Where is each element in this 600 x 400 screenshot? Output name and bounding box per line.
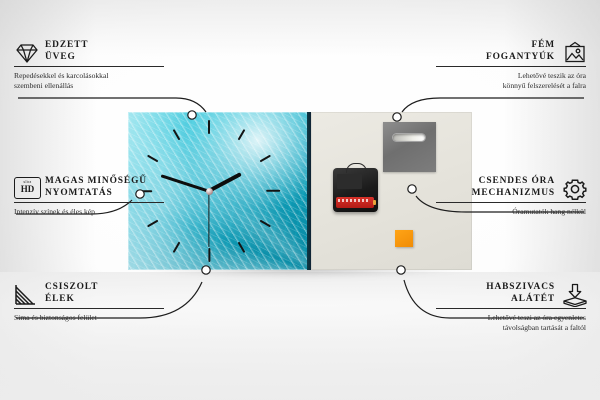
- callout-header: FÉM FOGANTYÚK: [426, 40, 586, 63]
- clock-hour-hand: [208, 172, 242, 193]
- callout-title: MAGAS MINŐSÉGŰ NYOMTATÁS: [45, 176, 147, 199]
- metal-hanger-bracket: [383, 122, 436, 172]
- callout-rule: [14, 66, 164, 67]
- ultra-hd-icon: ultra HD: [14, 177, 38, 199]
- hanging-frame-icon: [562, 41, 586, 63]
- clock-tick: [173, 129, 181, 140]
- callout-rule: [436, 66, 586, 67]
- clock-center-cap: [206, 188, 213, 195]
- callout-description: Lehetővé teszik az óra könnyű felszerelé…: [426, 71, 586, 90]
- clock-tick: [260, 220, 271, 228]
- callout-title: HABSZIVACS ALÁTÉT: [486, 282, 555, 305]
- callout-title: EDZETT ÜVEG: [45, 40, 88, 63]
- foam-spacer-pad: [395, 230, 413, 247]
- callout-rule: [436, 202, 586, 203]
- callout-csiszolt-elek[interactable]: CSISZOLT ÉLEK Sima és biztonságos felüle…: [14, 282, 174, 323]
- callout-description: Repedésekkel és karcolásokkal szembeni e…: [14, 71, 174, 90]
- connector-line-edzett-uveg: [18, 98, 206, 112]
- callout-header: CSENDES ÓRA MECHANIZMUS: [426, 176, 586, 199]
- movement-body: [337, 174, 362, 189]
- callout-rule: [436, 308, 586, 309]
- callout-header: CSISZOLT ÉLEK: [14, 282, 174, 305]
- connector-line-fem-fogantyuk: [402, 98, 584, 112]
- callout-title: FÉM FOGANTYÚK: [486, 40, 555, 63]
- infographic-stage: EDZETT ÜVEG Repedésekkel és karcolásokka…: [0, 0, 600, 400]
- battery-label: [338, 199, 368, 202]
- clock-tick: [173, 242, 181, 253]
- clock-tick: [266, 190, 280, 192]
- battery: [336, 197, 374, 208]
- clock-movement: [333, 168, 378, 212]
- ultra-hd-icon-main-text: HD: [21, 185, 35, 194]
- clock-tick: [147, 155, 158, 163]
- callout-description: Intenzív színek és éles kép: [14, 207, 174, 217]
- movement-hanger-loop: [346, 163, 367, 173]
- arrow-onto-pad-icon: [562, 283, 586, 305]
- callout-header: ultra HD MAGAS MINŐSÉGŰ NYOMTATÁS: [14, 176, 174, 199]
- clock-tick: [238, 129, 246, 140]
- diamond-icon: [14, 41, 38, 63]
- callout-title: CSISZOLT ÉLEK: [45, 282, 98, 305]
- clock-tick: [208, 120, 210, 134]
- gear-icon: [562, 177, 586, 199]
- product-image: [128, 112, 472, 270]
- hanger-keyhole-slot: [393, 134, 425, 141]
- callout-description: Sima és biztonságos felület: [14, 313, 174, 323]
- callout-description: Lehetővé teszi az óra egyenletes távolsá…: [426, 313, 586, 332]
- clock-tick: [208, 248, 210, 262]
- callout-description: Óramutatók hang nélkül: [426, 207, 586, 217]
- clock-tick: [260, 155, 271, 163]
- callout-rule: [14, 202, 164, 203]
- callout-header: HABSZIVACS ALÁTÉT: [426, 282, 586, 305]
- callout-header: EDZETT ÜVEG: [14, 40, 174, 63]
- clock-tick: [147, 220, 158, 228]
- callout-edzett-uveg[interactable]: EDZETT ÜVEG Repedésekkel és karcolásokka…: [14, 40, 174, 90]
- callout-title: CSENDES ÓRA MECHANIZMUS: [472, 176, 555, 199]
- callout-habszivacs-alatet[interactable]: HABSZIVACS ALÁTÉT Lehetővé teszi az óra …: [426, 282, 586, 332]
- callout-fem-fogantyuk[interactable]: FÉM FOGANTYÚK Lehetővé teszik az óra kön…: [426, 40, 586, 90]
- callout-rule: [14, 308, 164, 309]
- clock-tick: [238, 242, 246, 253]
- callout-magas-minosegu-nyomtatas[interactable]: ultra HD MAGAS MINŐSÉGŰ NYOMTATÁS Intenz…: [14, 176, 174, 217]
- beveled-edge-icon: [14, 283, 38, 305]
- clock-second-hand: [208, 191, 209, 247]
- callout-csendes-ora-mechanizmus[interactable]: CSENDES ÓRA MECHANIZMUS Óramutatók hang …: [426, 176, 586, 217]
